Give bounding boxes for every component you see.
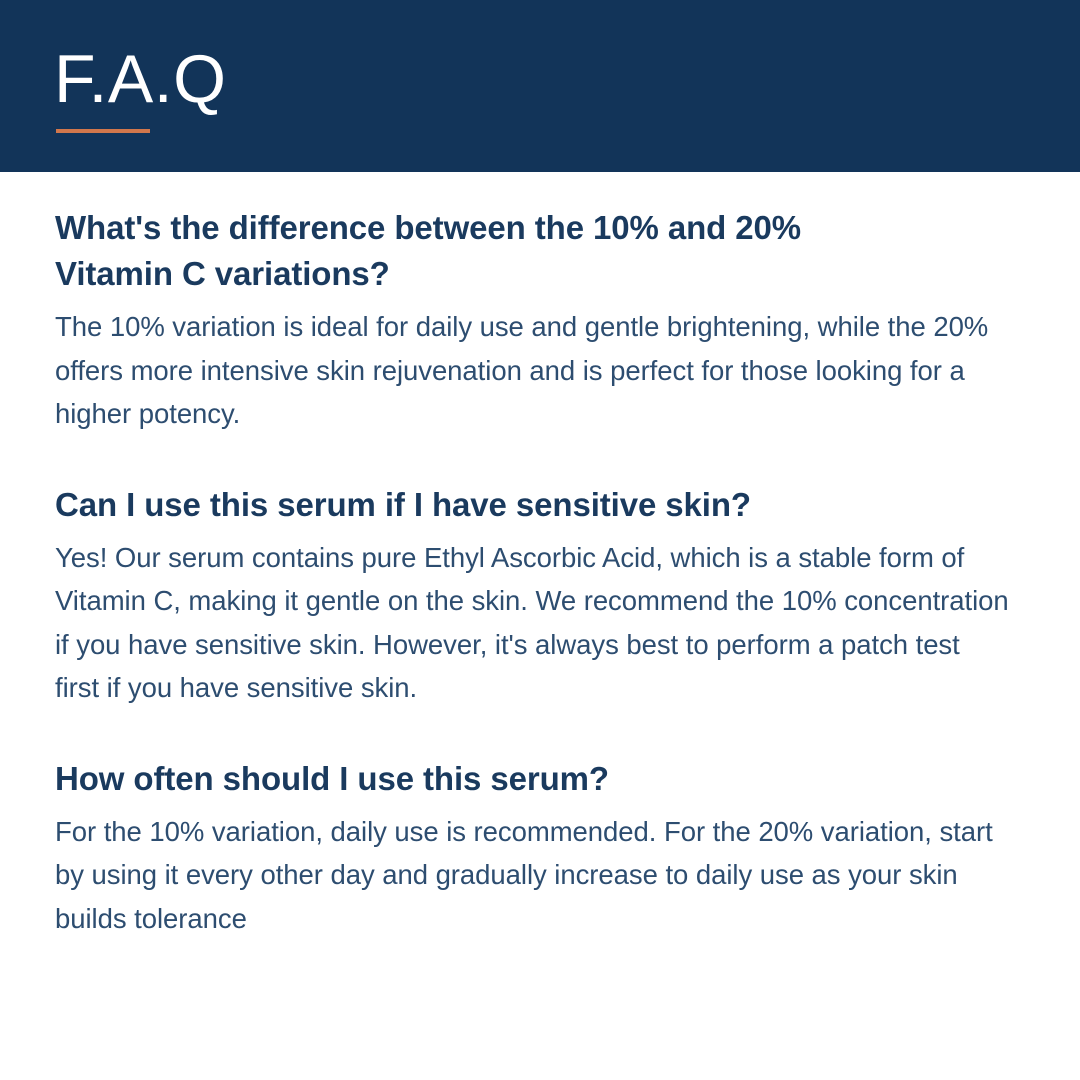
- faq-answer: Yes! Our serum contains pure Ethyl Ascor…: [55, 536, 1010, 710]
- faq-question: What's the difference between the 10% an…: [55, 205, 900, 297]
- faq-answer: The 10% variation is ideal for daily use…: [55, 305, 1010, 436]
- page-header: F.A.Q: [0, 0, 1080, 172]
- faq-question: Can I use this serum if I have sensitive…: [55, 482, 900, 528]
- faq-item: Can I use this serum if I have sensitive…: [55, 482, 1024, 710]
- title-accent-rule: [56, 129, 150, 133]
- faq-question: How often should I use this serum?: [55, 756, 900, 802]
- page-title: F.A.Q: [54, 42, 227, 116]
- faq-page: F.A.Q What's the difference between the …: [0, 0, 1080, 1080]
- faq-list: What's the difference between the 10% an…: [0, 172, 1080, 940]
- faq-item: How often should I use this serum? For t…: [55, 756, 1024, 941]
- faq-answer: For the 10% variation, daily use is reco…: [55, 810, 1010, 941]
- faq-item: What's the difference between the 10% an…: [55, 205, 1024, 436]
